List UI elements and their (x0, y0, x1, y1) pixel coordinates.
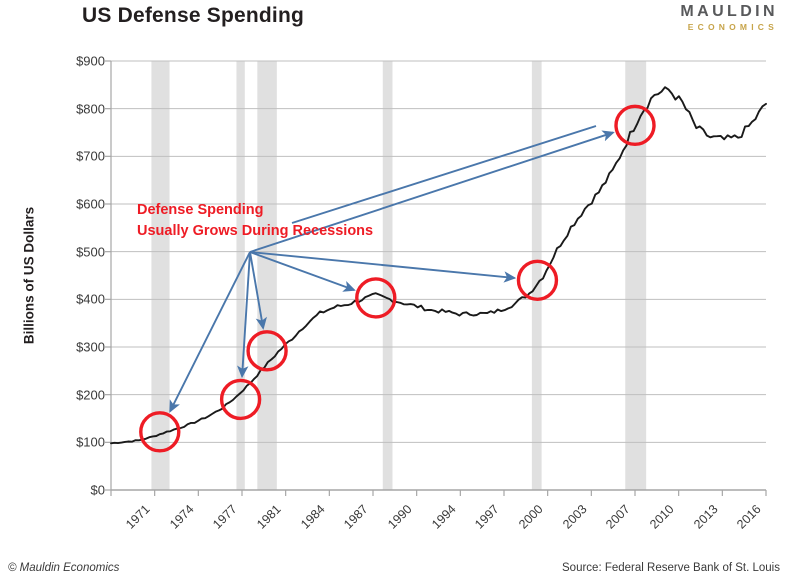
highlight-circles-group (141, 106, 654, 450)
recession-band (383, 61, 393, 490)
axis-lines-group (105, 61, 766, 496)
recession-band (257, 61, 277, 490)
copyright-text: © Mauldin Economics (8, 562, 119, 574)
recession-band (532, 61, 542, 490)
recession-bands-group (151, 61, 646, 490)
annotation-arrow (250, 133, 613, 252)
source-text: Source: Federal Reserve Bank of St. Loui… (562, 562, 780, 574)
gridlines-group (111, 61, 766, 442)
spending-line (111, 87, 766, 443)
spending-line-series (111, 87, 766, 443)
chart-plot-area (0, 0, 788, 582)
annotation-leader-line (292, 126, 596, 223)
chart-page: US Defense Spending MAULDIN ECONOMICS Bi… (0, 0, 788, 582)
annotation-arrow (250, 252, 515, 278)
recession-band (151, 61, 169, 490)
